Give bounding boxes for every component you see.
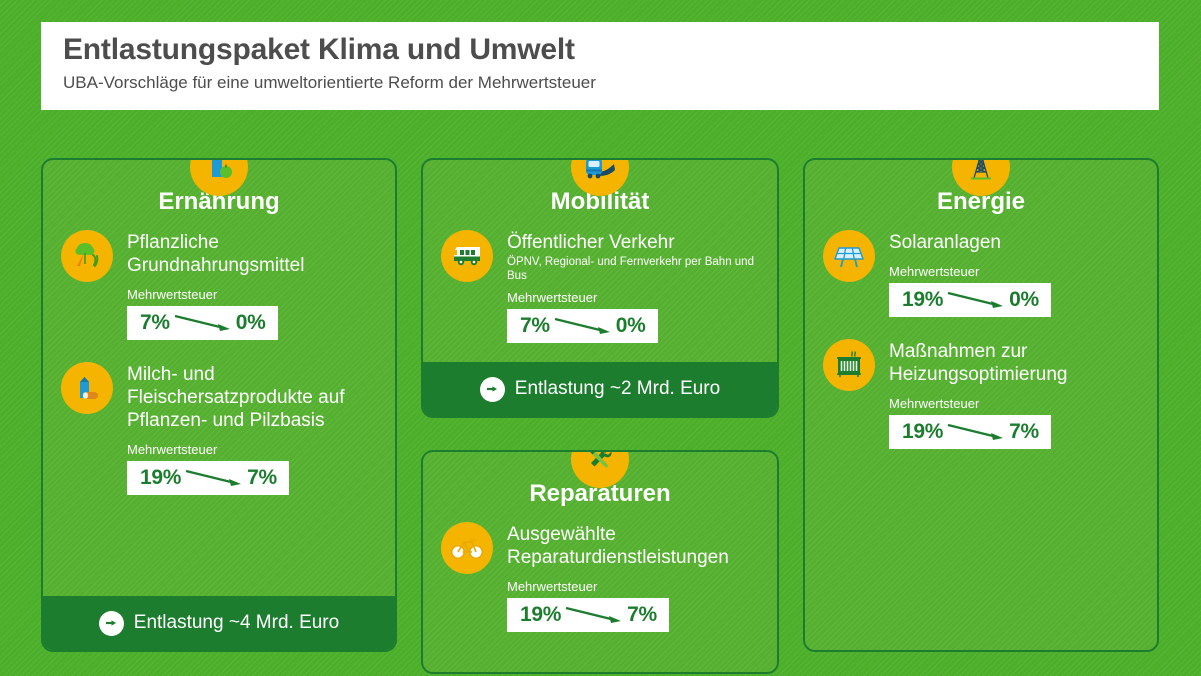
arrow-right-icon (183, 467, 245, 489)
tax-label: Mehrwertsteuer (889, 263, 1141, 280)
banner-text: Entlastung ~4 Mrd. Euro (134, 612, 339, 634)
solar-panel-icon (823, 230, 875, 282)
measure-body: Öffentlicher Verkehr ÖPNV, Regional- und… (507, 230, 761, 343)
tax-label: Mehrwertsteuer (889, 395, 1141, 412)
bicycle-icon (441, 522, 493, 574)
measure-title: Maßnahmen zur Heizungsoptimierung (889, 340, 1141, 386)
measure-body: Solaranlagen Mehrwertsteuer 19% 0% (889, 230, 1141, 317)
rate-to: 0% (616, 314, 646, 338)
arrow-right-circle-icon (99, 611, 124, 636)
rate-from: 19% (902, 420, 943, 444)
column-food: Ernährung Pflanzliche Grundnahrungs (41, 158, 397, 652)
tax-label: Mehrwertsteuer (127, 286, 379, 303)
card-food: Ernährung Pflanzliche Grundnahrungs (41, 158, 397, 652)
rate-to: 7% (247, 466, 277, 490)
rate-from: 7% (140, 311, 170, 335)
measure-title: Ausgewählte Reparaturdienstleistungen (507, 523, 761, 569)
tax-label: Mehrwertsteuer (507, 578, 761, 595)
measure-pflanzliche-grundnahrungsmittel: Pflanzliche Grundnahrungsmittel Mehrwert… (43, 230, 395, 340)
banner-text: Entlastung ~2 Mrd. Euro (515, 378, 720, 400)
measure-body: Maßnahmen zur Heizungsoptimierung Mehrwe… (889, 339, 1141, 449)
infographic-canvas: Entlastungspaket Klima und Umwelt UBA-Vo… (0, 0, 1201, 676)
measure-milch-fleischersatz: Milch- und Fleischersatzprodukte auf Pfl… (43, 362, 395, 495)
radiator-icon (823, 339, 875, 391)
measure-title: Solaranlagen (889, 231, 1141, 254)
measure-heizungsoptimierung: Maßnahmen zur Heizungsoptimierung Mehrwe… (805, 339, 1157, 449)
tax-rate-change: 19% 0% (889, 283, 1051, 317)
tax-rate-change: 19% 7% (507, 598, 669, 632)
header-panel: Entlastungspaket Klima und Umwelt UBA-Vo… (41, 22, 1159, 110)
rate-from: 19% (902, 288, 943, 312)
measure-subtitle: ÖPNV, Regional- und Fernverkehr per Bahn… (507, 255, 761, 283)
rate-from: 7% (520, 314, 550, 338)
measure-oeffentlicher-verkehr: Öffentlicher Verkehr ÖPNV, Regional- und… (423, 230, 777, 343)
milk-carton-sausage-icon (61, 362, 113, 414)
arrow-right-icon (172, 312, 234, 334)
rate-from: 19% (140, 466, 181, 490)
measure-body: Pflanzliche Grundnahrungsmittel Mehrwert… (127, 230, 379, 340)
rate-to: 7% (627, 603, 657, 627)
page-title: Entlastungspaket Klima und Umwelt (63, 32, 1159, 68)
rate-to: 7% (1009, 420, 1039, 444)
column-energy: Energie Solaranlagen (803, 158, 1159, 652)
rate-to: 0% (236, 311, 266, 335)
tax-rate-change: 7% 0% (507, 309, 658, 343)
arrow-right-icon (945, 421, 1007, 443)
measure-title: Pflanzliche Grundnahrungsmittel (127, 231, 379, 277)
measure-title: Öffentlicher Verkehr (507, 231, 761, 254)
tax-rate-change: 19% 7% (889, 415, 1051, 449)
tax-rate-change: 7% 0% (127, 306, 278, 340)
tax-rate-change: 19% 7% (127, 461, 289, 495)
card-energy: Energie Solaranlagen (803, 158, 1159, 652)
measure-reparaturdienstleistungen: Ausgewählte Reparaturdienstleistungen Me… (423, 522, 777, 632)
column-mobility-repair: Mobilität (421, 158, 779, 674)
card-repair: Reparaturen Ausgewählte Reparaturdienstl… (421, 450, 779, 674)
arrow-right-icon (945, 289, 1007, 311)
banner-food-relief: Entlastung ~4 Mrd. Euro (43, 596, 395, 650)
measure-body: Milch- und Fleischersatzprodukte auf Pfl… (127, 362, 379, 495)
rate-from: 19% (520, 603, 561, 627)
bus-icon (441, 230, 493, 282)
arrow-right-icon (563, 604, 625, 626)
rate-to: 0% (1009, 288, 1039, 312)
broccoli-carrot-icon (61, 230, 113, 282)
arrow-right-circle-icon (480, 377, 505, 402)
arrow-right-icon (552, 315, 614, 337)
measure-title: Milch- und Fleischersatzprodukte auf Pfl… (127, 363, 379, 432)
tax-label: Mehrwertsteuer (507, 289, 761, 306)
card-mobility: Mobilität (421, 158, 779, 418)
banner-mobility-relief: Entlastung ~2 Mrd. Euro (423, 362, 777, 416)
tax-label: Mehrwertsteuer (127, 441, 379, 458)
measure-solaranlagen: Solaranlagen Mehrwertsteuer 19% 0% (805, 230, 1157, 317)
measure-body: Ausgewählte Reparaturdienstleistungen Me… (507, 522, 761, 632)
page-subtitle: UBA-Vorschläge für eine umweltorientiert… (63, 72, 1159, 94)
